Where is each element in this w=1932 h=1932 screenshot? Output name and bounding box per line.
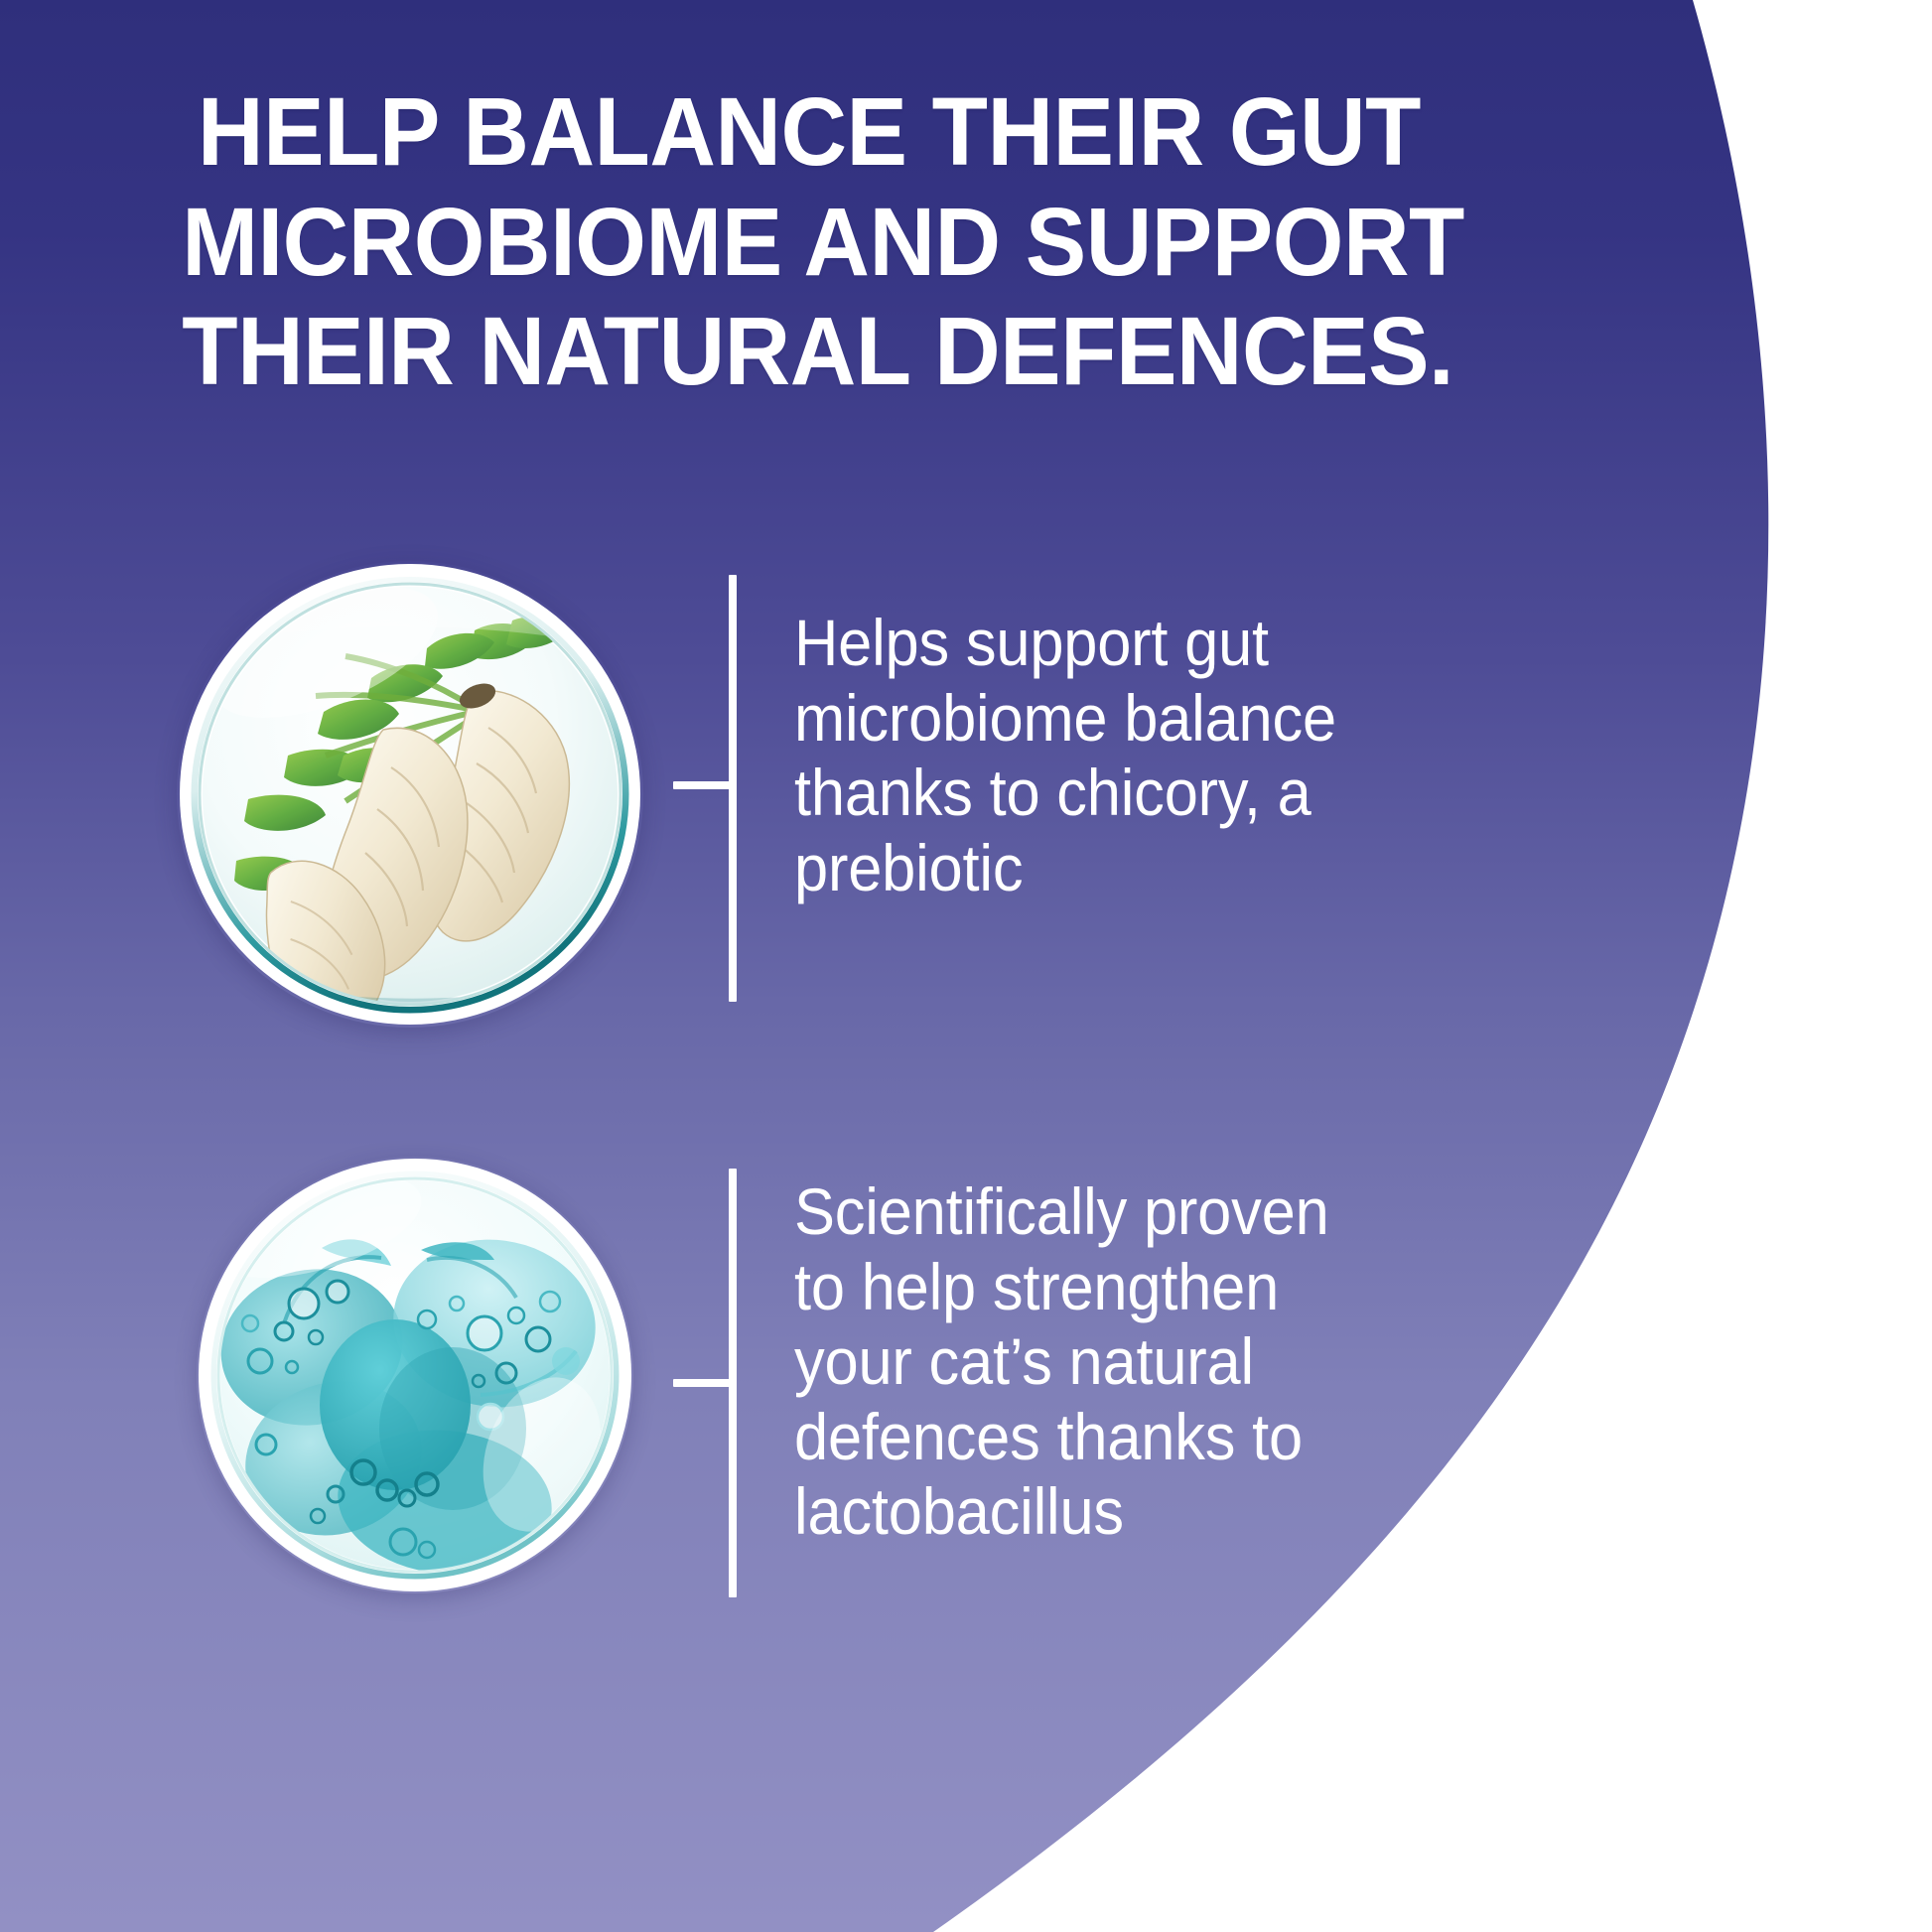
petri-dish-chicory-icon <box>177 561 643 1028</box>
connector-tick-mark <box>673 781 733 789</box>
petri-dish-lactobacillus-icon <box>197 1157 633 1593</box>
feature-2-line-2: to help strengthen <box>794 1250 1514 1325</box>
connector-tick-mark <box>673 1379 733 1387</box>
feature-1-line-2: microbiome balance <box>794 681 1514 757</box>
headline-line-3: THEIR NATURAL DEFENCES. <box>182 297 1437 407</box>
feature-2-line-5: lactobacillus <box>794 1474 1514 1550</box>
feature-1-line-3: thanks to chicory, a <box>794 756 1514 831</box>
product-benefit-panel: HELP BALANCE THEIR GUT MICROBIOME AND SU… <box>0 0 1932 1932</box>
feature-2-line-3: your cat’s natural <box>794 1324 1514 1400</box>
connector-bracket-2 <box>657 1169 776 1597</box>
feature-1-line-4: prebiotic <box>794 831 1514 906</box>
feature-2-text: Scientifically proven to help strengthen… <box>794 1174 1514 1550</box>
feature-2-line-4: defences thanks to <box>794 1400 1514 1475</box>
headline-line-1: HELP BALANCE THEIR GUT <box>182 77 1437 188</box>
feature-1-text: Helps support gut microbiome balance tha… <box>794 606 1514 905</box>
feature-1-line-1: Helps support gut <box>794 606 1514 681</box>
feature-2-line-1: Scientifically proven <box>794 1174 1514 1250</box>
headline-line-2: MICROBIOME AND SUPPORT <box>182 188 1437 298</box>
connector-bracket-1 <box>667 575 786 1002</box>
page-title: HELP BALANCE THEIR GUT MICROBIOME AND SU… <box>182 77 1437 407</box>
